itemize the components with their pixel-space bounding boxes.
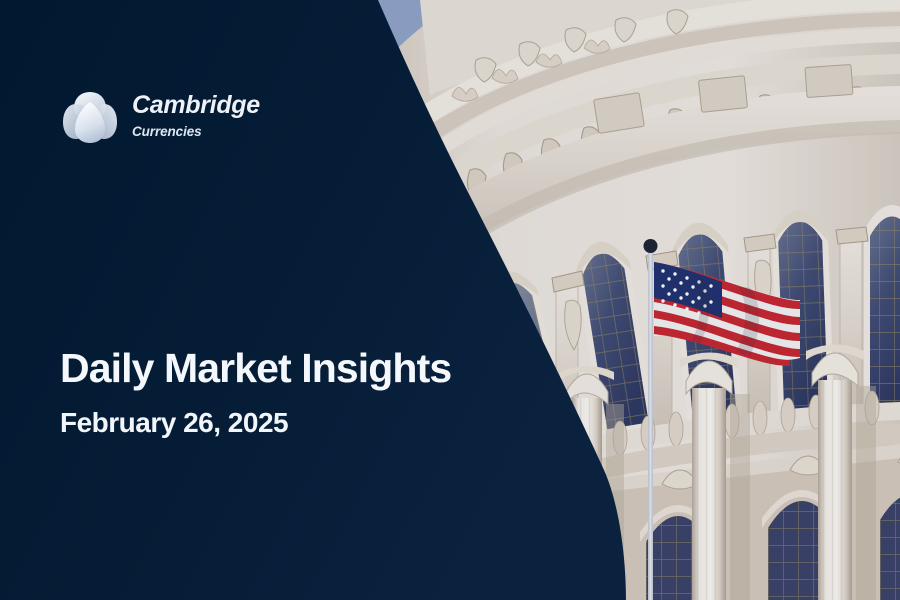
slide-canvas: Cambridge Currencies Daily Market Insigh… <box>0 0 900 600</box>
brand-wordmark: Cambridge Currencies <box>132 93 260 139</box>
three-petal-logo-icon <box>62 88 118 144</box>
brand-name: Cambridge <box>132 93 260 118</box>
brand-subtitle: Currencies <box>132 125 260 139</box>
hero-date: February 26, 2025 <box>60 409 451 437</box>
page-title: Daily Market Insights <box>60 348 451 389</box>
hero-text-block: Daily Market Insights February 26, 2025 <box>60 348 451 437</box>
brand-logo[interactable]: Cambridge Currencies <box>62 88 260 144</box>
